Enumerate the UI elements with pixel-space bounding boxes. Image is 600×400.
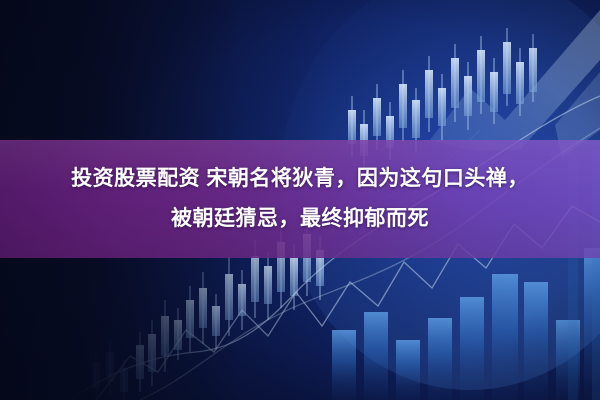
headline-banner: 投资股票配资 宋朝名将狄青，因为这句口头禅， 被朝廷猜忌，最终抑郁而死 [0, 140, 600, 258]
thumbnail-image: 投资股票配资 宋朝名将狄青，因为这句口头禅， 被朝廷猜忌，最终抑郁而死 [0, 0, 600, 400]
headline-line-1: 投资股票配资 宋朝名将狄青，因为这句口头禅， [71, 159, 529, 199]
headline-line-2: 被朝廷猜忌，最终抑郁而死 [171, 199, 429, 239]
